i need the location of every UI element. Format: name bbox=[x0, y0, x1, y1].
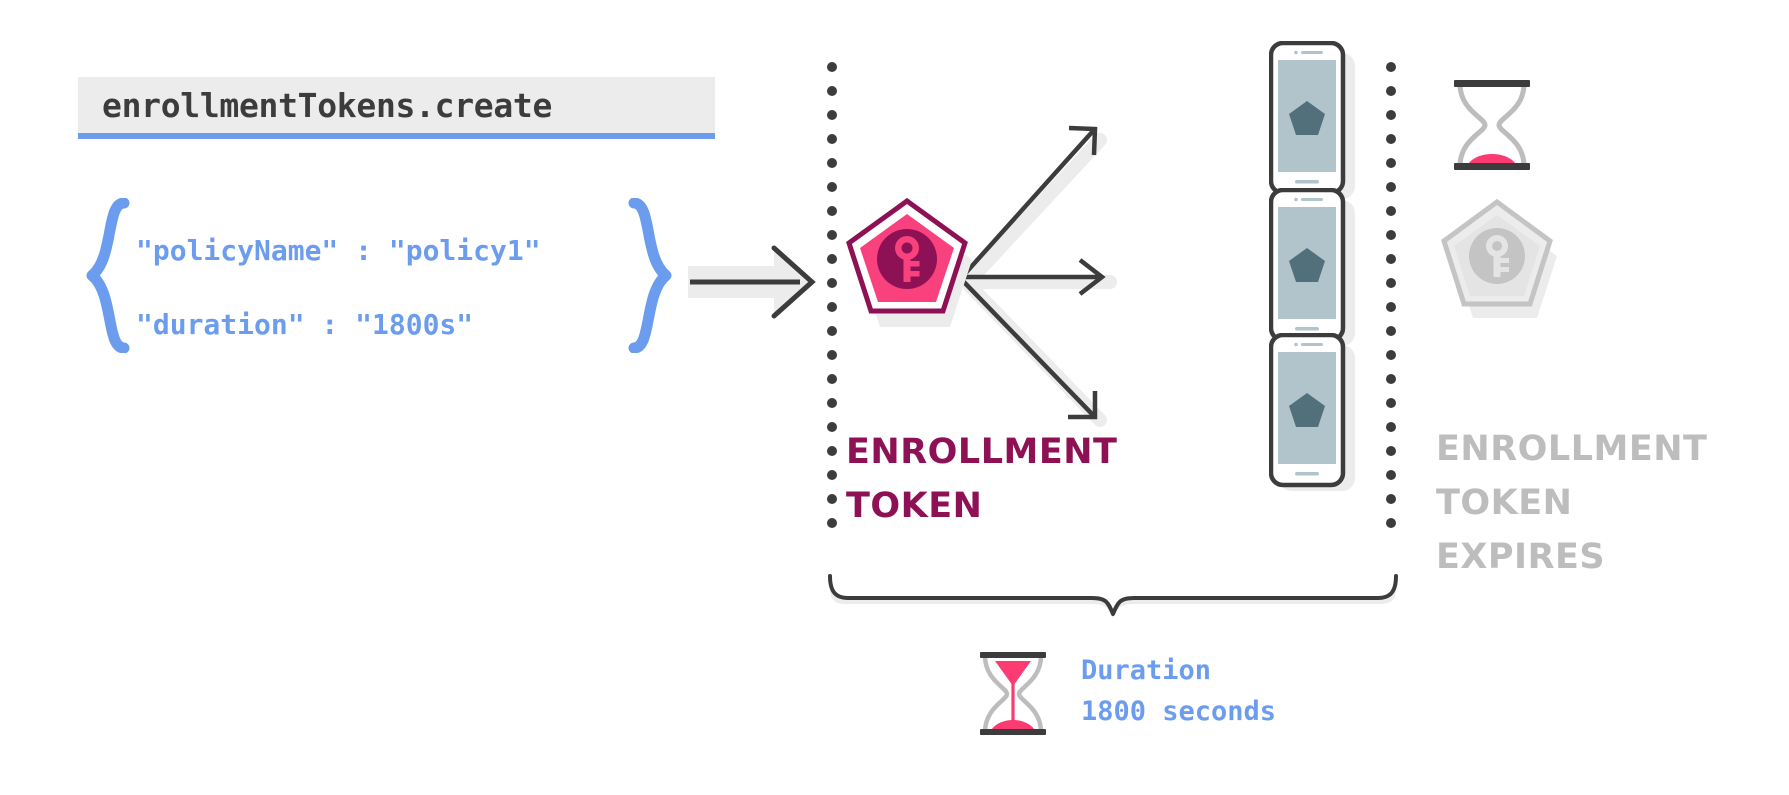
boundary-dot bbox=[1386, 518, 1396, 528]
boundary-dot bbox=[1386, 86, 1396, 96]
boundary-dot bbox=[1386, 398, 1396, 408]
boundary-dot bbox=[827, 158, 837, 168]
diagram-canvas: enrollmentTokens.create "policyName" : "… bbox=[0, 0, 1789, 795]
boundary-dot bbox=[1386, 326, 1396, 336]
boundary-dot bbox=[827, 62, 837, 72]
token-expired-boundary-line bbox=[1386, 62, 1396, 532]
token-distribution-arrows bbox=[960, 90, 1270, 480]
boundary-dot bbox=[827, 134, 837, 144]
boundary-dot bbox=[827, 398, 837, 408]
boundary-dot bbox=[1386, 158, 1396, 168]
boundary-dot bbox=[1386, 494, 1396, 504]
boundary-dot bbox=[827, 230, 837, 240]
close-brace-icon bbox=[628, 198, 674, 353]
boundary-dot bbox=[1386, 446, 1396, 456]
boundary-dot bbox=[827, 326, 837, 336]
boundary-dot bbox=[1386, 182, 1396, 192]
boundary-dot bbox=[827, 446, 837, 456]
boundary-dot bbox=[1386, 206, 1396, 216]
boundary-dot bbox=[1386, 422, 1396, 432]
api-request-arrow-icon bbox=[688, 240, 818, 325]
boundary-dot bbox=[1386, 254, 1396, 264]
boundary-dot bbox=[1386, 62, 1396, 72]
boundary-dot bbox=[827, 494, 837, 504]
boundary-dot bbox=[1386, 110, 1396, 120]
boundary-dot bbox=[1386, 302, 1396, 312]
boundary-dot bbox=[827, 470, 837, 480]
boundary-dot bbox=[827, 374, 837, 384]
boundary-dot bbox=[827, 206, 837, 216]
device-phone-3 bbox=[1269, 333, 1355, 491]
boundary-dot bbox=[1386, 374, 1396, 384]
boundary-dot bbox=[1386, 134, 1396, 144]
token-created-boundary-line bbox=[827, 62, 837, 532]
boundary-dot bbox=[1386, 350, 1396, 360]
boundary-dot bbox=[827, 422, 837, 432]
open-brace-icon bbox=[84, 198, 130, 353]
hourglass-empty-icon bbox=[1449, 76, 1535, 174]
boundary-dot bbox=[827, 182, 837, 192]
device-phone-2 bbox=[1269, 188, 1355, 346]
enrollment-token-label: ENROLLMENT TOKEN bbox=[846, 425, 1146, 533]
api-method-title: enrollmentTokens.create bbox=[102, 86, 552, 125]
enrollment-token-icon bbox=[845, 197, 975, 327]
request-payload-block: "policyName" : "policy1" "duration" : "1… bbox=[84, 198, 674, 353]
duration-label: Duration 1800 seconds bbox=[1081, 650, 1276, 732]
boundary-dot bbox=[827, 302, 837, 312]
boundary-dot bbox=[1386, 230, 1396, 240]
boundary-dot bbox=[1386, 278, 1396, 288]
request-payload-text: "policyName" : "policy1" "duration" : "1… bbox=[136, 214, 541, 362]
boundary-dot bbox=[827, 278, 837, 288]
boundary-dot bbox=[827, 350, 837, 360]
device-phone-1 bbox=[1269, 41, 1355, 199]
boundary-dot bbox=[827, 86, 837, 96]
boundary-dot bbox=[1386, 470, 1396, 480]
enrollment-token-expired-icon bbox=[1437, 198, 1559, 320]
boundary-dot bbox=[827, 110, 837, 120]
duration-legend: Duration 1800 seconds bbox=[976, 648, 1396, 744]
duration-span-brace-icon bbox=[828, 572, 1398, 620]
boundary-dot bbox=[827, 518, 837, 528]
boundary-dot bbox=[827, 254, 837, 264]
api-method-title-block: enrollmentTokens.create bbox=[78, 77, 715, 139]
hourglass-running-icon bbox=[976, 648, 1050, 738]
enrollment-token-expires-label: ENROLLMENT TOKEN EXPIRES bbox=[1436, 422, 1736, 584]
